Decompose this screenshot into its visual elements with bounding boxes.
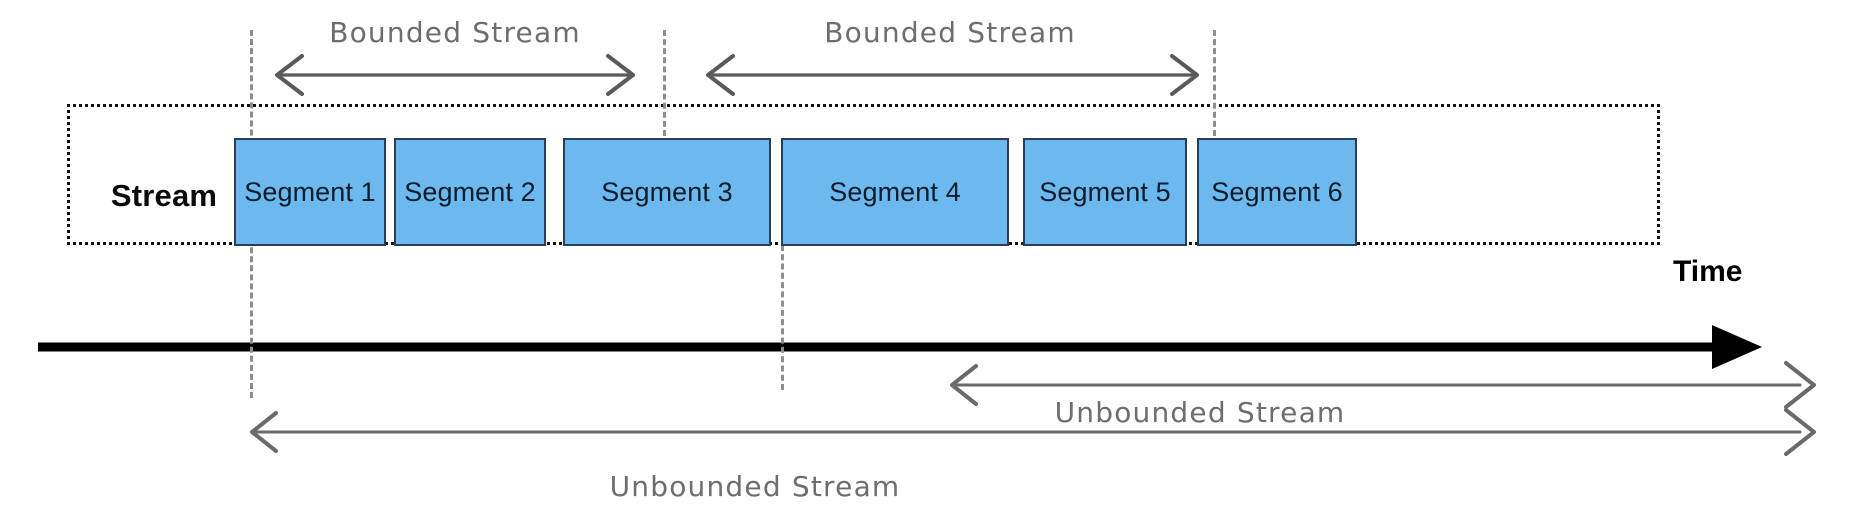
unbounded-stream-label-upper: Unbounded Stream — [1000, 396, 1400, 429]
bounded-stream-arrow-2 — [708, 56, 1197, 94]
segment-box-2[interactable]: Segment 2 — [394, 138, 546, 246]
segment-label: Segment 3 — [601, 177, 732, 208]
segment-box-4[interactable]: Segment 4 — [781, 138, 1009, 246]
bounded-stream-label-1: Bounded Stream — [275, 16, 635, 49]
time-axis-arrow — [38, 325, 1762, 369]
divider-3 — [781, 245, 784, 390]
unbounded-stream-label-lower: Unbounded Stream — [555, 470, 955, 503]
segment-label: Segment 6 — [1211, 177, 1342, 208]
segment-box-3[interactable]: Segment 3 — [563, 138, 771, 246]
diagram-canvas: Stream Segment 1 Segment 2 Segment 3 Seg… — [0, 0, 1863, 518]
bounded-stream-label-2: Bounded Stream — [770, 16, 1130, 49]
segment-label: Segment 1 — [244, 177, 375, 208]
diagram-vector-layer — [0, 0, 1863, 518]
segment-box-5[interactable]: Segment 5 — [1023, 138, 1187, 246]
segment-label: Segment 2 — [404, 177, 535, 208]
segment-label: Segment 5 — [1039, 177, 1170, 208]
segment-box-1[interactable]: Segment 1 — [234, 138, 386, 246]
segment-box-6[interactable]: Segment 6 — [1197, 138, 1357, 246]
bounded-stream-arrow-1 — [277, 56, 633, 94]
time-axis-label: Time — [1673, 255, 1742, 289]
stream-label: Stream — [84, 178, 244, 214]
segment-label: Segment 4 — [829, 177, 960, 208]
